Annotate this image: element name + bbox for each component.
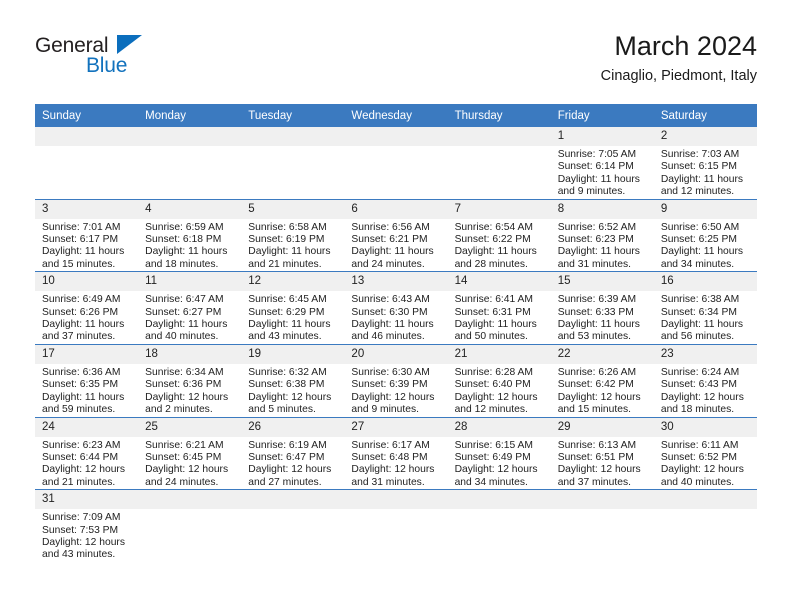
day-info-line: Daylight: 11 hours <box>248 246 338 258</box>
calendar-day-cell[interactable]: 24Sunrise: 6:23 AMSunset: 6:44 PMDayligh… <box>35 417 138 490</box>
weekday-header-friday: Friday <box>551 104 654 127</box>
day-info-line: Daylight: 11 hours <box>558 246 648 258</box>
title-block: March 2024 Cinaglio, Piedmont, Italy <box>601 30 757 86</box>
day-number <box>551 490 654 509</box>
day-number: 19 <box>241 345 344 364</box>
page-subtitle: Cinaglio, Piedmont, Italy <box>601 66 757 86</box>
day-info-line: Daylight: 11 hours <box>248 319 338 331</box>
day-info-line: Daylight: 11 hours <box>558 319 648 331</box>
day-number: 11 <box>138 272 241 291</box>
day-sun-info: Sunrise: 6:39 AMSunset: 6:33 PMDaylight:… <box>551 291 654 344</box>
calendar-header-row: SundayMondayTuesdayWednesdayThursdayFrid… <box>35 104 757 127</box>
day-info-line: Sunset: 6:31 PM <box>455 307 545 319</box>
day-info-line: Daylight: 11 hours <box>351 246 441 258</box>
day-info-line: Daylight: 12 hours <box>42 537 132 549</box>
weekday-header-row: SundayMondayTuesdayWednesdayThursdayFrid… <box>35 104 757 127</box>
day-info-line: Sunrise: 6:15 AM <box>455 440 545 452</box>
day-sun-info: Sunrise: 6:52 AMSunset: 6:23 PMDaylight:… <box>551 219 654 272</box>
weekday-header-wednesday: Wednesday <box>344 104 447 127</box>
calendar-day-cell-empty <box>344 127 447 199</box>
day-info-line: and 24 minutes. <box>145 477 235 489</box>
day-info-line: Daylight: 11 hours <box>42 246 132 258</box>
calendar-day-cell-empty <box>654 490 757 562</box>
day-number: 29 <box>551 418 654 437</box>
day-number: 30 <box>654 418 757 437</box>
calendar-day-cell[interactable]: 12Sunrise: 6:45 AMSunset: 6:29 PMDayligh… <box>241 272 344 345</box>
calendar-day-cell[interactable]: 29Sunrise: 6:13 AMSunset: 6:51 PMDayligh… <box>551 417 654 490</box>
calendar-day-cell[interactable]: 18Sunrise: 6:34 AMSunset: 6:36 PMDayligh… <box>138 344 241 417</box>
day-info-line: Sunrise: 6:11 AM <box>661 440 751 452</box>
calendar-day-cell[interactable]: 27Sunrise: 6:17 AMSunset: 6:48 PMDayligh… <box>344 417 447 490</box>
day-number: 28 <box>448 418 551 437</box>
day-sun-info: Sunrise: 6:49 AMSunset: 6:26 PMDaylight:… <box>35 291 138 344</box>
calendar-day-cell[interactable]: 25Sunrise: 6:21 AMSunset: 6:45 PMDayligh… <box>138 417 241 490</box>
calendar-day-cell[interactable]: 11Sunrise: 6:47 AMSunset: 6:27 PMDayligh… <box>138 272 241 345</box>
logo-text-blue: Blue <box>86 54 127 78</box>
day-sun-info: Sunrise: 6:38 AMSunset: 6:34 PMDaylight:… <box>654 291 757 344</box>
calendar-day-cell-empty <box>448 127 551 199</box>
day-number: 17 <box>35 345 138 364</box>
day-info-line: Sunset: 6:39 PM <box>351 379 441 391</box>
day-info-line: Daylight: 12 hours <box>351 464 441 476</box>
day-info-line: Daylight: 12 hours <box>455 392 545 404</box>
day-sun-info: Sunrise: 6:43 AMSunset: 6:30 PMDaylight:… <box>344 291 447 344</box>
day-sun-info: Sunrise: 6:56 AMSunset: 6:21 PMDaylight:… <box>344 219 447 272</box>
calendar-week-row: 1Sunrise: 7:05 AMSunset: 6:14 PMDaylight… <box>35 127 757 199</box>
day-number: 4 <box>138 200 241 219</box>
day-info-line: Sunrise: 7:03 AM <box>661 149 751 161</box>
day-info-line: Daylight: 12 hours <box>248 392 338 404</box>
calendar-page: General Blue March 2024 Cinaglio, Piedmo… <box>0 0 792 612</box>
day-info-line: and 21 minutes. <box>42 477 132 489</box>
day-info-line: Sunset: 7:53 PM <box>42 525 132 537</box>
day-number: 14 <box>448 272 551 291</box>
day-info-line: Sunrise: 6:19 AM <box>248 440 338 452</box>
day-number <box>448 490 551 509</box>
day-number: 12 <box>241 272 344 291</box>
day-info-line: Sunset: 6:15 PM <box>661 161 751 173</box>
calendar-day-cell[interactable]: 9Sunrise: 6:50 AMSunset: 6:25 PMDaylight… <box>654 199 757 272</box>
day-info-line: Sunrise: 6:34 AM <box>145 367 235 379</box>
calendar-day-cell-empty <box>35 127 138 199</box>
day-info-line: and 43 minutes. <box>248 331 338 343</box>
day-number: 22 <box>551 345 654 364</box>
calendar-day-cell[interactable]: 4Sunrise: 6:59 AMSunset: 6:18 PMDaylight… <box>138 199 241 272</box>
day-info-line: Sunset: 6:27 PM <box>145 307 235 319</box>
day-info-line: and 18 minutes. <box>661 404 751 416</box>
day-sun-info: Sunrise: 7:05 AMSunset: 6:14 PMDaylight:… <box>551 146 654 199</box>
weekday-header-saturday: Saturday <box>654 104 757 127</box>
calendar-day-cell[interactable]: 6Sunrise: 6:56 AMSunset: 6:21 PMDaylight… <box>344 199 447 272</box>
day-sun-info: Sunrise: 6:28 AMSunset: 6:40 PMDaylight:… <box>448 364 551 417</box>
day-sun-info: Sunrise: 6:41 AMSunset: 6:31 PMDaylight:… <box>448 291 551 344</box>
day-sun-info: Sunrise: 6:58 AMSunset: 6:19 PMDaylight:… <box>241 219 344 272</box>
day-info-line: Sunset: 6:49 PM <box>455 452 545 464</box>
day-info-line: and 31 minutes. <box>558 259 648 271</box>
calendar-day-cell-empty <box>241 127 344 199</box>
day-info-line: Daylight: 12 hours <box>661 392 751 404</box>
day-sun-info: Sunrise: 6:47 AMSunset: 6:27 PMDaylight:… <box>138 291 241 344</box>
day-info-line: Sunset: 6:51 PM <box>558 452 648 464</box>
day-info-line: Sunset: 6:33 PM <box>558 307 648 319</box>
day-number <box>241 127 344 146</box>
day-info-line: and 9 minutes. <box>351 404 441 416</box>
calendar-table: SundayMondayTuesdayWednesdayThursdayFrid… <box>35 104 757 562</box>
day-info-line: Sunset: 6:43 PM <box>661 379 751 391</box>
day-info-line: Sunrise: 6:47 AM <box>145 294 235 306</box>
day-info-line: Daylight: 11 hours <box>558 174 648 186</box>
calendar-day-cell[interactable]: 23Sunrise: 6:24 AMSunset: 6:43 PMDayligh… <box>654 344 757 417</box>
day-info-line: Sunset: 6:48 PM <box>351 452 441 464</box>
day-number: 5 <box>241 200 344 219</box>
day-info-line: and 56 minutes. <box>661 331 751 343</box>
day-info-line: Daylight: 11 hours <box>661 174 751 186</box>
day-info-line: Sunrise: 6:58 AM <box>248 222 338 234</box>
day-info-line: Sunset: 6:14 PM <box>558 161 648 173</box>
day-sun-info: Sunrise: 6:32 AMSunset: 6:38 PMDaylight:… <box>241 364 344 417</box>
weekday-header-monday: Monday <box>138 104 241 127</box>
day-number: 10 <box>35 272 138 291</box>
day-sun-info: Sunrise: 6:26 AMSunset: 6:42 PMDaylight:… <box>551 364 654 417</box>
calendar-week-row: 31Sunrise: 7:09 AMSunset: 7:53 PMDayligh… <box>35 490 757 562</box>
calendar-day-cell[interactable]: 17Sunrise: 6:36 AMSunset: 6:35 PMDayligh… <box>35 344 138 417</box>
day-info-line: Daylight: 12 hours <box>145 392 235 404</box>
day-info-line: Sunrise: 6:32 AM <box>248 367 338 379</box>
weekday-header-sunday: Sunday <box>35 104 138 127</box>
calendar-day-cell-empty <box>138 127 241 199</box>
calendar-day-cell[interactable]: 15Sunrise: 6:39 AMSunset: 6:33 PMDayligh… <box>551 272 654 345</box>
day-number: 31 <box>35 490 138 509</box>
day-number: 25 <box>138 418 241 437</box>
calendar-day-cell[interactable]: 28Sunrise: 6:15 AMSunset: 6:49 PMDayligh… <box>448 417 551 490</box>
calendar-day-cell[interactable]: 3Sunrise: 7:01 AMSunset: 6:17 PMDaylight… <box>35 199 138 272</box>
calendar-day-cell[interactable]: 8Sunrise: 6:52 AMSunset: 6:23 PMDaylight… <box>551 199 654 272</box>
day-info-line: Daylight: 12 hours <box>42 464 132 476</box>
day-info-line: Sunrise: 7:09 AM <box>42 512 132 524</box>
day-number: 23 <box>654 345 757 364</box>
day-info-line: Daylight: 11 hours <box>455 319 545 331</box>
day-sun-info: Sunrise: 6:23 AMSunset: 6:44 PMDaylight:… <box>35 437 138 490</box>
day-info-line: and 53 minutes. <box>558 331 648 343</box>
day-info-line: Sunset: 6:25 PM <box>661 234 751 246</box>
day-info-line: Sunrise: 7:05 AM <box>558 149 648 161</box>
day-info-line: and 40 minutes. <box>145 331 235 343</box>
day-sun-info: Sunrise: 6:45 AMSunset: 6:29 PMDaylight:… <box>241 291 344 344</box>
calendar-day-cell[interactable]: 5Sunrise: 6:58 AMSunset: 6:19 PMDaylight… <box>241 199 344 272</box>
calendar-body: 1Sunrise: 7:05 AMSunset: 6:14 PMDaylight… <box>35 127 757 562</box>
day-info-line: and 28 minutes. <box>455 259 545 271</box>
day-info-line: Daylight: 11 hours <box>145 246 235 258</box>
calendar-week-row: 3Sunrise: 7:01 AMSunset: 6:17 PMDaylight… <box>35 199 757 272</box>
day-info-line: Sunrise: 6:36 AM <box>42 367 132 379</box>
day-info-line: Daylight: 12 hours <box>455 464 545 476</box>
day-info-line: Sunrise: 6:41 AM <box>455 294 545 306</box>
calendar-day-cell-empty <box>344 490 447 562</box>
day-sun-info: Sunrise: 6:19 AMSunset: 6:47 PMDaylight:… <box>241 437 344 490</box>
day-info-line: Sunrise: 6:23 AM <box>42 440 132 452</box>
calendar-day-cell[interactable]: 21Sunrise: 6:28 AMSunset: 6:40 PMDayligh… <box>448 344 551 417</box>
day-info-line: Sunrise: 6:50 AM <box>661 222 751 234</box>
calendar-day-cell-empty <box>551 490 654 562</box>
day-sun-info: Sunrise: 6:15 AMSunset: 6:49 PMDaylight:… <box>448 437 551 490</box>
day-info-line: Daylight: 11 hours <box>145 319 235 331</box>
day-info-line: Sunset: 6:26 PM <box>42 307 132 319</box>
day-sun-info: Sunrise: 7:09 AMSunset: 7:53 PMDaylight:… <box>35 509 138 562</box>
day-info-line: Sunrise: 6:24 AM <box>661 367 751 379</box>
calendar-week-row: 10Sunrise: 6:49 AMSunset: 6:26 PMDayligh… <box>35 272 757 345</box>
calendar-day-cell-empty <box>241 490 344 562</box>
day-sun-info: Sunrise: 6:36 AMSunset: 6:35 PMDaylight:… <box>35 364 138 417</box>
day-number: 24 <box>35 418 138 437</box>
day-number: 6 <box>344 200 447 219</box>
day-info-line: Sunrise: 6:49 AM <box>42 294 132 306</box>
day-info-line: and 2 minutes. <box>145 404 235 416</box>
day-info-line: Sunrise: 6:21 AM <box>145 440 235 452</box>
day-info-line: and 18 minutes. <box>145 259 235 271</box>
day-info-line: Sunset: 6:40 PM <box>455 379 545 391</box>
day-info-line: Sunrise: 6:28 AM <box>455 367 545 379</box>
day-info-line: Sunrise: 6:17 AM <box>351 440 441 452</box>
day-sun-info: Sunrise: 6:13 AMSunset: 6:51 PMDaylight:… <box>551 437 654 490</box>
day-info-line: Daylight: 12 hours <box>248 464 338 476</box>
day-info-line: Sunset: 6:29 PM <box>248 307 338 319</box>
calendar-week-row: 17Sunrise: 6:36 AMSunset: 6:35 PMDayligh… <box>35 344 757 417</box>
day-sun-info: Sunrise: 6:21 AMSunset: 6:45 PMDaylight:… <box>138 437 241 490</box>
day-info-line: and 12 minutes. <box>661 186 751 198</box>
day-info-line: Sunset: 6:18 PM <box>145 234 235 246</box>
day-info-line: and 59 minutes. <box>42 404 132 416</box>
day-info-line: Sunset: 6:34 PM <box>661 307 751 319</box>
day-info-line: Sunset: 6:36 PM <box>145 379 235 391</box>
day-number: 1 <box>551 127 654 146</box>
calendar-day-cell[interactable]: 1Sunrise: 7:05 AMSunset: 6:14 PMDaylight… <box>551 127 654 199</box>
day-info-line: Sunrise: 6:59 AM <box>145 222 235 234</box>
day-info-line: Sunset: 6:38 PM <box>248 379 338 391</box>
day-sun-info: Sunrise: 6:59 AMSunset: 6:18 PMDaylight:… <box>138 219 241 272</box>
day-sun-info: Sunrise: 6:24 AMSunset: 6:43 PMDaylight:… <box>654 364 757 417</box>
day-number: 20 <box>344 345 447 364</box>
calendar-week-row: 24Sunrise: 6:23 AMSunset: 6:44 PMDayligh… <box>35 417 757 490</box>
day-number <box>241 490 344 509</box>
day-number: 21 <box>448 345 551 364</box>
day-number: 8 <box>551 200 654 219</box>
day-info-line: Daylight: 12 hours <box>351 392 441 404</box>
day-info-line: Daylight: 12 hours <box>558 392 648 404</box>
calendar-day-cell[interactable]: 31Sunrise: 7:09 AMSunset: 7:53 PMDayligh… <box>35 490 138 562</box>
day-info-line: Sunrise: 6:45 AM <box>248 294 338 306</box>
day-info-line: Daylight: 11 hours <box>661 319 751 331</box>
day-number: 15 <box>551 272 654 291</box>
page-title: March 2024 <box>601 30 757 62</box>
day-info-line: and 5 minutes. <box>248 404 338 416</box>
weekday-header-tuesday: Tuesday <box>241 104 344 127</box>
day-sun-info: Sunrise: 7:03 AMSunset: 6:15 PMDaylight:… <box>654 146 757 199</box>
day-info-line: Sunset: 6:45 PM <box>145 452 235 464</box>
day-info-line: Sunset: 6:47 PM <box>248 452 338 464</box>
day-info-line: and 15 minutes. <box>42 259 132 271</box>
day-info-line: and 34 minutes. <box>661 259 751 271</box>
day-info-line: Sunrise: 6:43 AM <box>351 294 441 306</box>
day-info-line: and 46 minutes. <box>351 331 441 343</box>
day-sun-info: Sunrise: 6:11 AMSunset: 6:52 PMDaylight:… <box>654 437 757 490</box>
calendar-day-cell[interactable]: 10Sunrise: 6:49 AMSunset: 6:26 PMDayligh… <box>35 272 138 345</box>
day-number: 2 <box>654 127 757 146</box>
day-info-line: Sunrise: 6:13 AM <box>558 440 648 452</box>
day-number: 13 <box>344 272 447 291</box>
day-info-line: and 50 minutes. <box>455 331 545 343</box>
day-info-line: Daylight: 11 hours <box>455 246 545 258</box>
calendar-day-cell[interactable]: 19Sunrise: 6:32 AMSunset: 6:38 PMDayligh… <box>241 344 344 417</box>
day-info-line: Daylight: 12 hours <box>558 464 648 476</box>
day-sun-info: Sunrise: 7:01 AMSunset: 6:17 PMDaylight:… <box>35 219 138 272</box>
day-info-line: and 37 minutes. <box>558 477 648 489</box>
day-info-line: Sunset: 6:42 PM <box>558 379 648 391</box>
day-info-line: Sunrise: 6:39 AM <box>558 294 648 306</box>
day-number: 18 <box>138 345 241 364</box>
day-info-line: and 9 minutes. <box>558 186 648 198</box>
day-info-line: Sunset: 6:44 PM <box>42 452 132 464</box>
day-info-line: Daylight: 11 hours <box>42 392 132 404</box>
calendar-day-cell[interactable]: 22Sunrise: 6:26 AMSunset: 6:42 PMDayligh… <box>551 344 654 417</box>
calendar-day-cell[interactable]: 26Sunrise: 6:19 AMSunset: 6:47 PMDayligh… <box>241 417 344 490</box>
day-info-line: Sunset: 6:21 PM <box>351 234 441 246</box>
day-number: 27 <box>344 418 447 437</box>
day-number <box>138 490 241 509</box>
day-number: 26 <box>241 418 344 437</box>
day-number <box>344 490 447 509</box>
day-info-line: Sunrise: 6:30 AM <box>351 367 441 379</box>
day-number: 7 <box>448 200 551 219</box>
calendar-day-cell[interactable]: 16Sunrise: 6:38 AMSunset: 6:34 PMDayligh… <box>654 272 757 345</box>
day-info-line: Sunset: 6:19 PM <box>248 234 338 246</box>
day-number: 16 <box>654 272 757 291</box>
day-number: 3 <box>35 200 138 219</box>
day-number <box>654 490 757 509</box>
calendar-day-cell-empty <box>448 490 551 562</box>
calendar-day-cell[interactable]: 20Sunrise: 6:30 AMSunset: 6:39 PMDayligh… <box>344 344 447 417</box>
day-info-line: Sunset: 6:35 PM <box>42 379 132 391</box>
day-info-line: and 15 minutes. <box>558 404 648 416</box>
calendar-day-cell[interactable]: 7Sunrise: 6:54 AMSunset: 6:22 PMDaylight… <box>448 199 551 272</box>
day-info-line: Sunset: 6:52 PM <box>661 452 751 464</box>
day-info-line: Sunrise: 6:52 AM <box>558 222 648 234</box>
weekday-header-thursday: Thursday <box>448 104 551 127</box>
day-info-line: and 43 minutes. <box>42 549 132 561</box>
day-info-line: Daylight: 11 hours <box>661 246 751 258</box>
day-info-line: Sunset: 6:17 PM <box>42 234 132 246</box>
day-sun-info: Sunrise: 6:17 AMSunset: 6:48 PMDaylight:… <box>344 437 447 490</box>
page-header: General Blue March 2024 Cinaglio, Piedmo… <box>35 30 757 92</box>
day-info-line: and 27 minutes. <box>248 477 338 489</box>
day-info-line: and 21 minutes. <box>248 259 338 271</box>
day-sun-info: Sunrise: 6:30 AMSunset: 6:39 PMDaylight:… <box>344 364 447 417</box>
day-sun-info: Sunrise: 6:34 AMSunset: 6:36 PMDaylight:… <box>138 364 241 417</box>
day-info-line: Sunset: 6:22 PM <box>455 234 545 246</box>
day-info-line: Sunrise: 7:01 AM <box>42 222 132 234</box>
calendar-day-cell[interactable]: 30Sunrise: 6:11 AMSunset: 6:52 PMDayligh… <box>654 417 757 490</box>
day-info-line: Daylight: 11 hours <box>351 319 441 331</box>
day-info-line: Daylight: 12 hours <box>145 464 235 476</box>
day-info-line: Sunrise: 6:56 AM <box>351 222 441 234</box>
day-info-line: Sunrise: 6:26 AM <box>558 367 648 379</box>
day-number <box>448 127 551 146</box>
day-number <box>344 127 447 146</box>
day-number <box>35 127 138 146</box>
day-info-line: Sunset: 6:23 PM <box>558 234 648 246</box>
day-info-line: and 31 minutes. <box>351 477 441 489</box>
day-info-line: and 34 minutes. <box>455 477 545 489</box>
day-number: 9 <box>654 200 757 219</box>
day-info-line: Sunset: 6:30 PM <box>351 307 441 319</box>
day-sun-info: Sunrise: 6:54 AMSunset: 6:22 PMDaylight:… <box>448 219 551 272</box>
calendar-day-cell[interactable]: 13Sunrise: 6:43 AMSunset: 6:30 PMDayligh… <box>344 272 447 345</box>
day-info-line: and 12 minutes. <box>455 404 545 416</box>
day-number <box>138 127 241 146</box>
day-info-line: and 24 minutes. <box>351 259 441 271</box>
day-info-line: Daylight: 12 hours <box>661 464 751 476</box>
day-info-line: Sunrise: 6:38 AM <box>661 294 751 306</box>
calendar-day-cell[interactable]: 14Sunrise: 6:41 AMSunset: 6:31 PMDayligh… <box>448 272 551 345</box>
day-info-line: Sunrise: 6:54 AM <box>455 222 545 234</box>
calendar-day-cell[interactable]: 2Sunrise: 7:03 AMSunset: 6:15 PMDaylight… <box>654 127 757 199</box>
day-sun-info: Sunrise: 6:50 AMSunset: 6:25 PMDaylight:… <box>654 219 757 272</box>
calendar-day-cell-empty <box>138 490 241 562</box>
day-info-line: Daylight: 11 hours <box>42 319 132 331</box>
day-info-line: and 37 minutes. <box>42 331 132 343</box>
logo-triangle-icon <box>117 35 142 54</box>
day-info-line: and 40 minutes. <box>661 477 751 489</box>
general-blue-logo: General Blue <box>35 34 215 90</box>
